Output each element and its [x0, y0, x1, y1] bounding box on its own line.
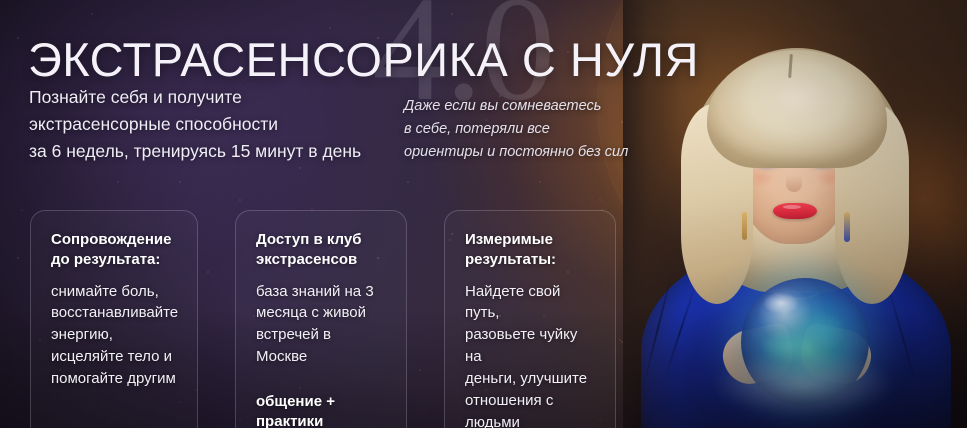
note-line: в себе, потеряли все	[404, 118, 628, 141]
feature-card-body: база знаний на 3 месяца с живой встречей…	[256, 281, 386, 369]
supporting-note: Даже если вы сомневаетесь в себе, потеря…	[404, 95, 628, 165]
lead-paragraph: Познайте себя и получите экстрасенсорные…	[29, 84, 361, 165]
body-line: помогайте другим	[51, 370, 176, 387]
body-line: деньги, улучшите	[465, 370, 587, 387]
page-title: ЭКСТРАСЕНСОРИКА С НУЛЯ	[28, 35, 699, 84]
body-line: восстанавливайте	[51, 304, 178, 321]
title-line: экстрасенсов	[256, 251, 357, 268]
body-line: отношения с людьми	[465, 392, 553, 428]
note-line: Даже если вы сомневаетесь	[404, 95, 628, 118]
body-line: разовьете чуйку на	[465, 326, 577, 365]
body-line: встречей в Москве	[256, 326, 331, 365]
lead-line: за 6 недель, тренируясь 15 минут в день	[29, 138, 361, 165]
lead-line: экстрасенсорные способности	[29, 111, 361, 138]
feature-card-support[interactable]: Сопровождение до результата: снимайте бо…	[30, 210, 198, 428]
feature-card-club-access[interactable]: Доступ в клуб экстрасенсов база знаний н…	[235, 210, 407, 428]
title-line: Сопровождение	[51, 231, 172, 248]
lead-line: Познайте себя и получите	[29, 84, 361, 111]
title-line: Измеримые	[465, 231, 553, 248]
body-line: исцеляйте тело и	[51, 348, 172, 365]
feature-card-body: Найдете свой путь, разовьете чуйку на де…	[465, 281, 595, 428]
feature-card-title: Доступ в клуб экстрасенсов	[256, 230, 386, 270]
feature-card-body: снимайте боль, восстанавливайте энергию,…	[51, 281, 177, 390]
title-line: до результата:	[51, 251, 160, 268]
note-line: ориентиры и постоянно без сил	[404, 141, 628, 164]
feature-card-list: Сопровождение до результата: снимайте бо…	[30, 210, 616, 428]
body-line: база знаний на 3	[256, 283, 374, 300]
title-line: результаты:	[465, 251, 556, 268]
feature-card-title: Сопровождение до результата:	[51, 230, 177, 270]
feature-card-footer: общение + практики	[256, 392, 386, 428]
body-line: снимайте боль,	[51, 283, 159, 300]
promo-banner: 4.0 ЭКСТРАСЕНСОРИКА С НУЛЯ Познайте себя…	[0, 0, 967, 428]
feature-card-title: Измеримые результаты:	[465, 230, 595, 270]
body-line: энергию,	[51, 326, 113, 343]
title-line: Доступ в клуб	[256, 231, 361, 248]
body-line: Найдете свой путь,	[465, 283, 560, 322]
feature-card-results[interactable]: Измеримые результаты: Найдете свой путь,…	[444, 210, 616, 428]
body-line: месяца с живой	[256, 304, 366, 321]
